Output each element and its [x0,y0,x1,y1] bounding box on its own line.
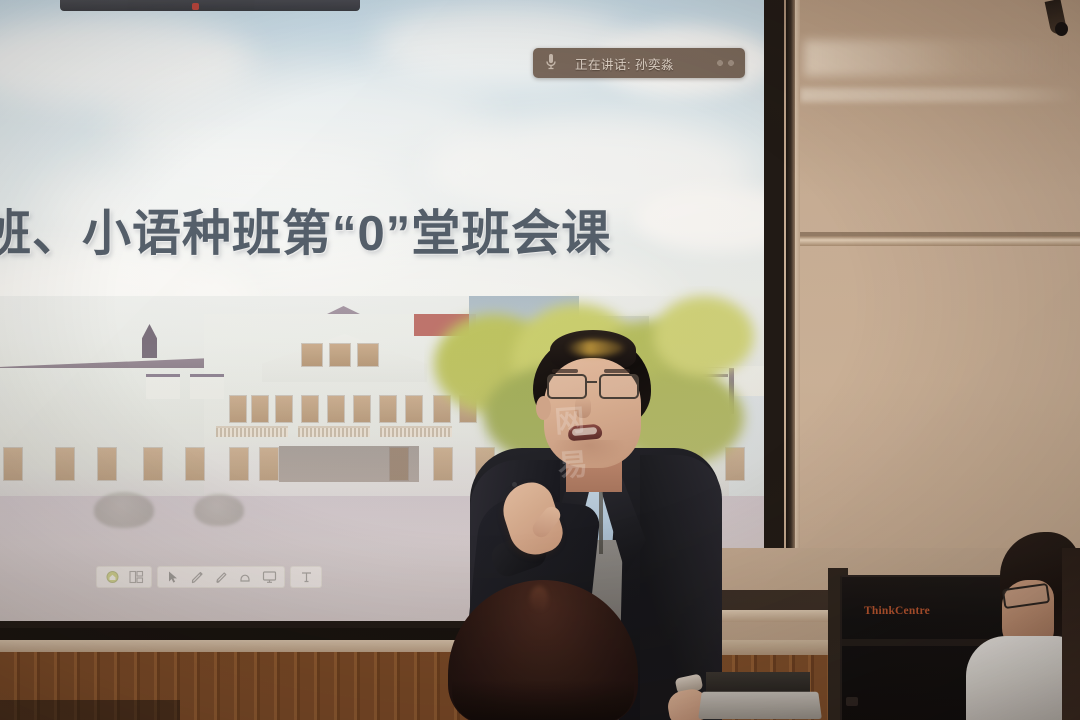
top-toolbar-item[interactable] [202,2,254,11]
audience-far-right [1062,548,1080,720]
building-balcony [298,426,370,437]
wall-molding [795,236,1080,246]
slides-grid-icon[interactable] [124,568,148,586]
building-window [406,396,422,422]
presenter-hair-highlight [566,340,624,356]
monitor-port [846,697,858,706]
text-icon[interactable] [294,568,318,586]
presenter-nose [575,396,591,418]
audience-front-shadow [452,680,634,720]
annotation-toolbar[interactable] [96,566,322,588]
top-toolbar-item[interactable] [270,2,340,11]
building-dormer [146,374,180,399]
building-balcony [216,426,288,437]
presenter-glasses [547,374,643,398]
toolbar-file-group[interactable] [96,566,152,588]
toolbar-extra-group[interactable] [290,566,322,588]
projector-lens-icon [1055,22,1068,36]
microphone-icon [545,53,561,73]
now-speaking-overlay: 正在讲话: 孙奕淼 [533,48,745,78]
screen-icon[interactable] [257,568,281,586]
slide-title: 班、小语种班第“0”堂班会课 [0,194,642,265]
building-window [276,396,292,422]
presentation-photo-scene: 班、小语种班第“0”堂班会课 [0,0,1080,720]
building-window [252,396,268,422]
home-icon[interactable] [100,568,124,586]
building-window [328,396,344,422]
laptop-keyboard [698,692,822,719]
tree [654,296,754,376]
record-indicator-icon [192,3,199,10]
overlay-menu-dots-icon [715,58,737,68]
building-window [186,448,204,480]
highlighter-icon[interactable] [209,568,233,586]
toolbar-tools-group[interactable] [157,566,285,588]
cursor-arrow-icon[interactable] [161,568,185,586]
pen-icon[interactable] [185,568,209,586]
building-window [354,396,370,422]
building-window [98,448,116,480]
presenter-eyebrow-left [552,369,578,373]
building-window [330,344,350,366]
building-window [4,448,22,480]
presenter-chin-shadow [552,440,626,466]
building-window [380,396,396,422]
building-window [302,344,322,366]
cropped-top-toolbar[interactable] [60,0,360,11]
building-window [358,344,378,366]
presenter-ear [536,396,551,420]
building-window [230,448,248,480]
shrub [94,492,154,528]
wall-light-reflection-2 [800,88,1080,102]
building-entrance [279,446,419,482]
building-window [260,448,278,480]
building-window [302,396,318,422]
wall-light-reflection [804,40,1069,76]
eraser-icon[interactable] [233,568,257,586]
shrub [194,494,244,526]
building-window [144,448,162,480]
building-window [56,448,74,480]
glasses-bridge [585,381,597,383]
audience-hair-part [530,586,548,612]
glasses-lens-right [599,374,639,399]
seat-back-foreground [0,700,180,720]
building-window [230,396,246,422]
building-dormer [190,374,224,399]
presenter-eyebrow-right [604,369,630,373]
monitor-brand-label: ThinkCentre [864,605,930,617]
now-speaking-label: 正在讲话: 孙奕淼 [575,54,674,73]
